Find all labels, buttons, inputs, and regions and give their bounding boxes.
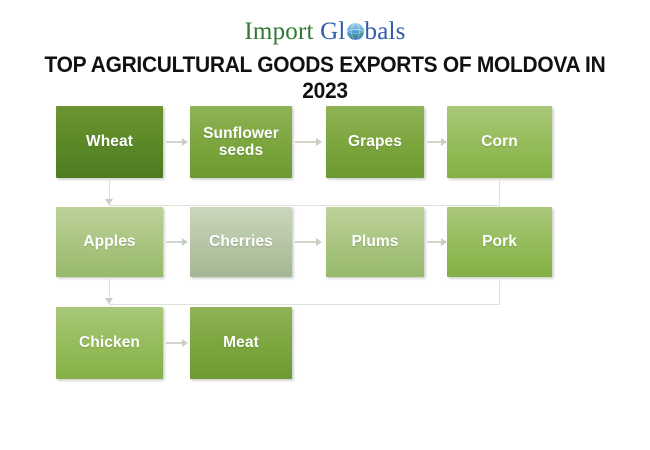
arrow-head-down-icon — [105, 298, 113, 304]
flow-node-label: Wheat — [86, 133, 133, 150]
arrow-shaft — [295, 141, 316, 143]
flow-diagram: Wheat Sunflower seeds Grapes Corn Apples… — [0, 0, 650, 450]
connector-corn-to-apples — [109, 178, 500, 206]
connector-wheat-to-sunflower-seeds — [166, 137, 188, 147]
arrow-head-icon — [182, 339, 188, 347]
flow-node-label: Sunflower seeds — [190, 125, 292, 160]
flow-node-pork[interactable]: Pork — [447, 207, 552, 277]
connector-plums-to-pork — [427, 237, 447, 247]
arrow-shaft — [427, 241, 441, 243]
arrow-head-icon — [316, 138, 322, 146]
flow-node-corn[interactable]: Corn — [447, 106, 552, 178]
flow-node-label: Cherries — [209, 233, 273, 250]
flow-node-apples[interactable]: Apples — [56, 207, 163, 277]
arrow-shaft — [166, 342, 182, 344]
arrow-shaft — [427, 141, 441, 143]
connector-grapes-to-corn — [427, 137, 447, 147]
connector-chicken-to-meat — [166, 338, 188, 348]
flow-node-label: Meat — [223, 334, 259, 351]
connector-cherries-to-plums — [295, 237, 323, 247]
flow-node-grapes[interactable]: Grapes — [326, 106, 424, 178]
flow-node-meat[interactable]: Meat — [190, 307, 292, 379]
flow-node-label: Chicken — [79, 334, 140, 351]
flow-node-label: Plums — [351, 233, 398, 250]
flow-node-label: Grapes — [348, 133, 402, 150]
connector-apples-to-cherries — [166, 237, 188, 247]
connector-pork-to-chicken — [109, 277, 500, 305]
arrow-head-icon — [182, 238, 188, 246]
arrow-shaft — [166, 241, 182, 243]
arrow-head-icon — [182, 138, 188, 146]
flow-node-wheat[interactable]: Wheat — [56, 106, 163, 178]
arrow-head-icon — [316, 238, 322, 246]
flow-node-label: Corn — [481, 133, 518, 150]
arrow-head-down-icon — [105, 199, 113, 205]
flow-node-label: Apples — [83, 233, 135, 250]
arrow-shaft — [295, 241, 316, 243]
flow-node-plums[interactable]: Plums — [326, 207, 424, 277]
connector-sunflower-seeds-to-grapes — [295, 137, 323, 147]
flow-node-label: Pork — [482, 233, 517, 250]
flow-node-chicken[interactable]: Chicken — [56, 307, 163, 379]
flow-node-cherries[interactable]: Cherries — [190, 207, 292, 277]
flow-node-sunflower-seeds[interactable]: Sunflower seeds — [190, 106, 292, 178]
arrow-shaft — [166, 141, 182, 143]
